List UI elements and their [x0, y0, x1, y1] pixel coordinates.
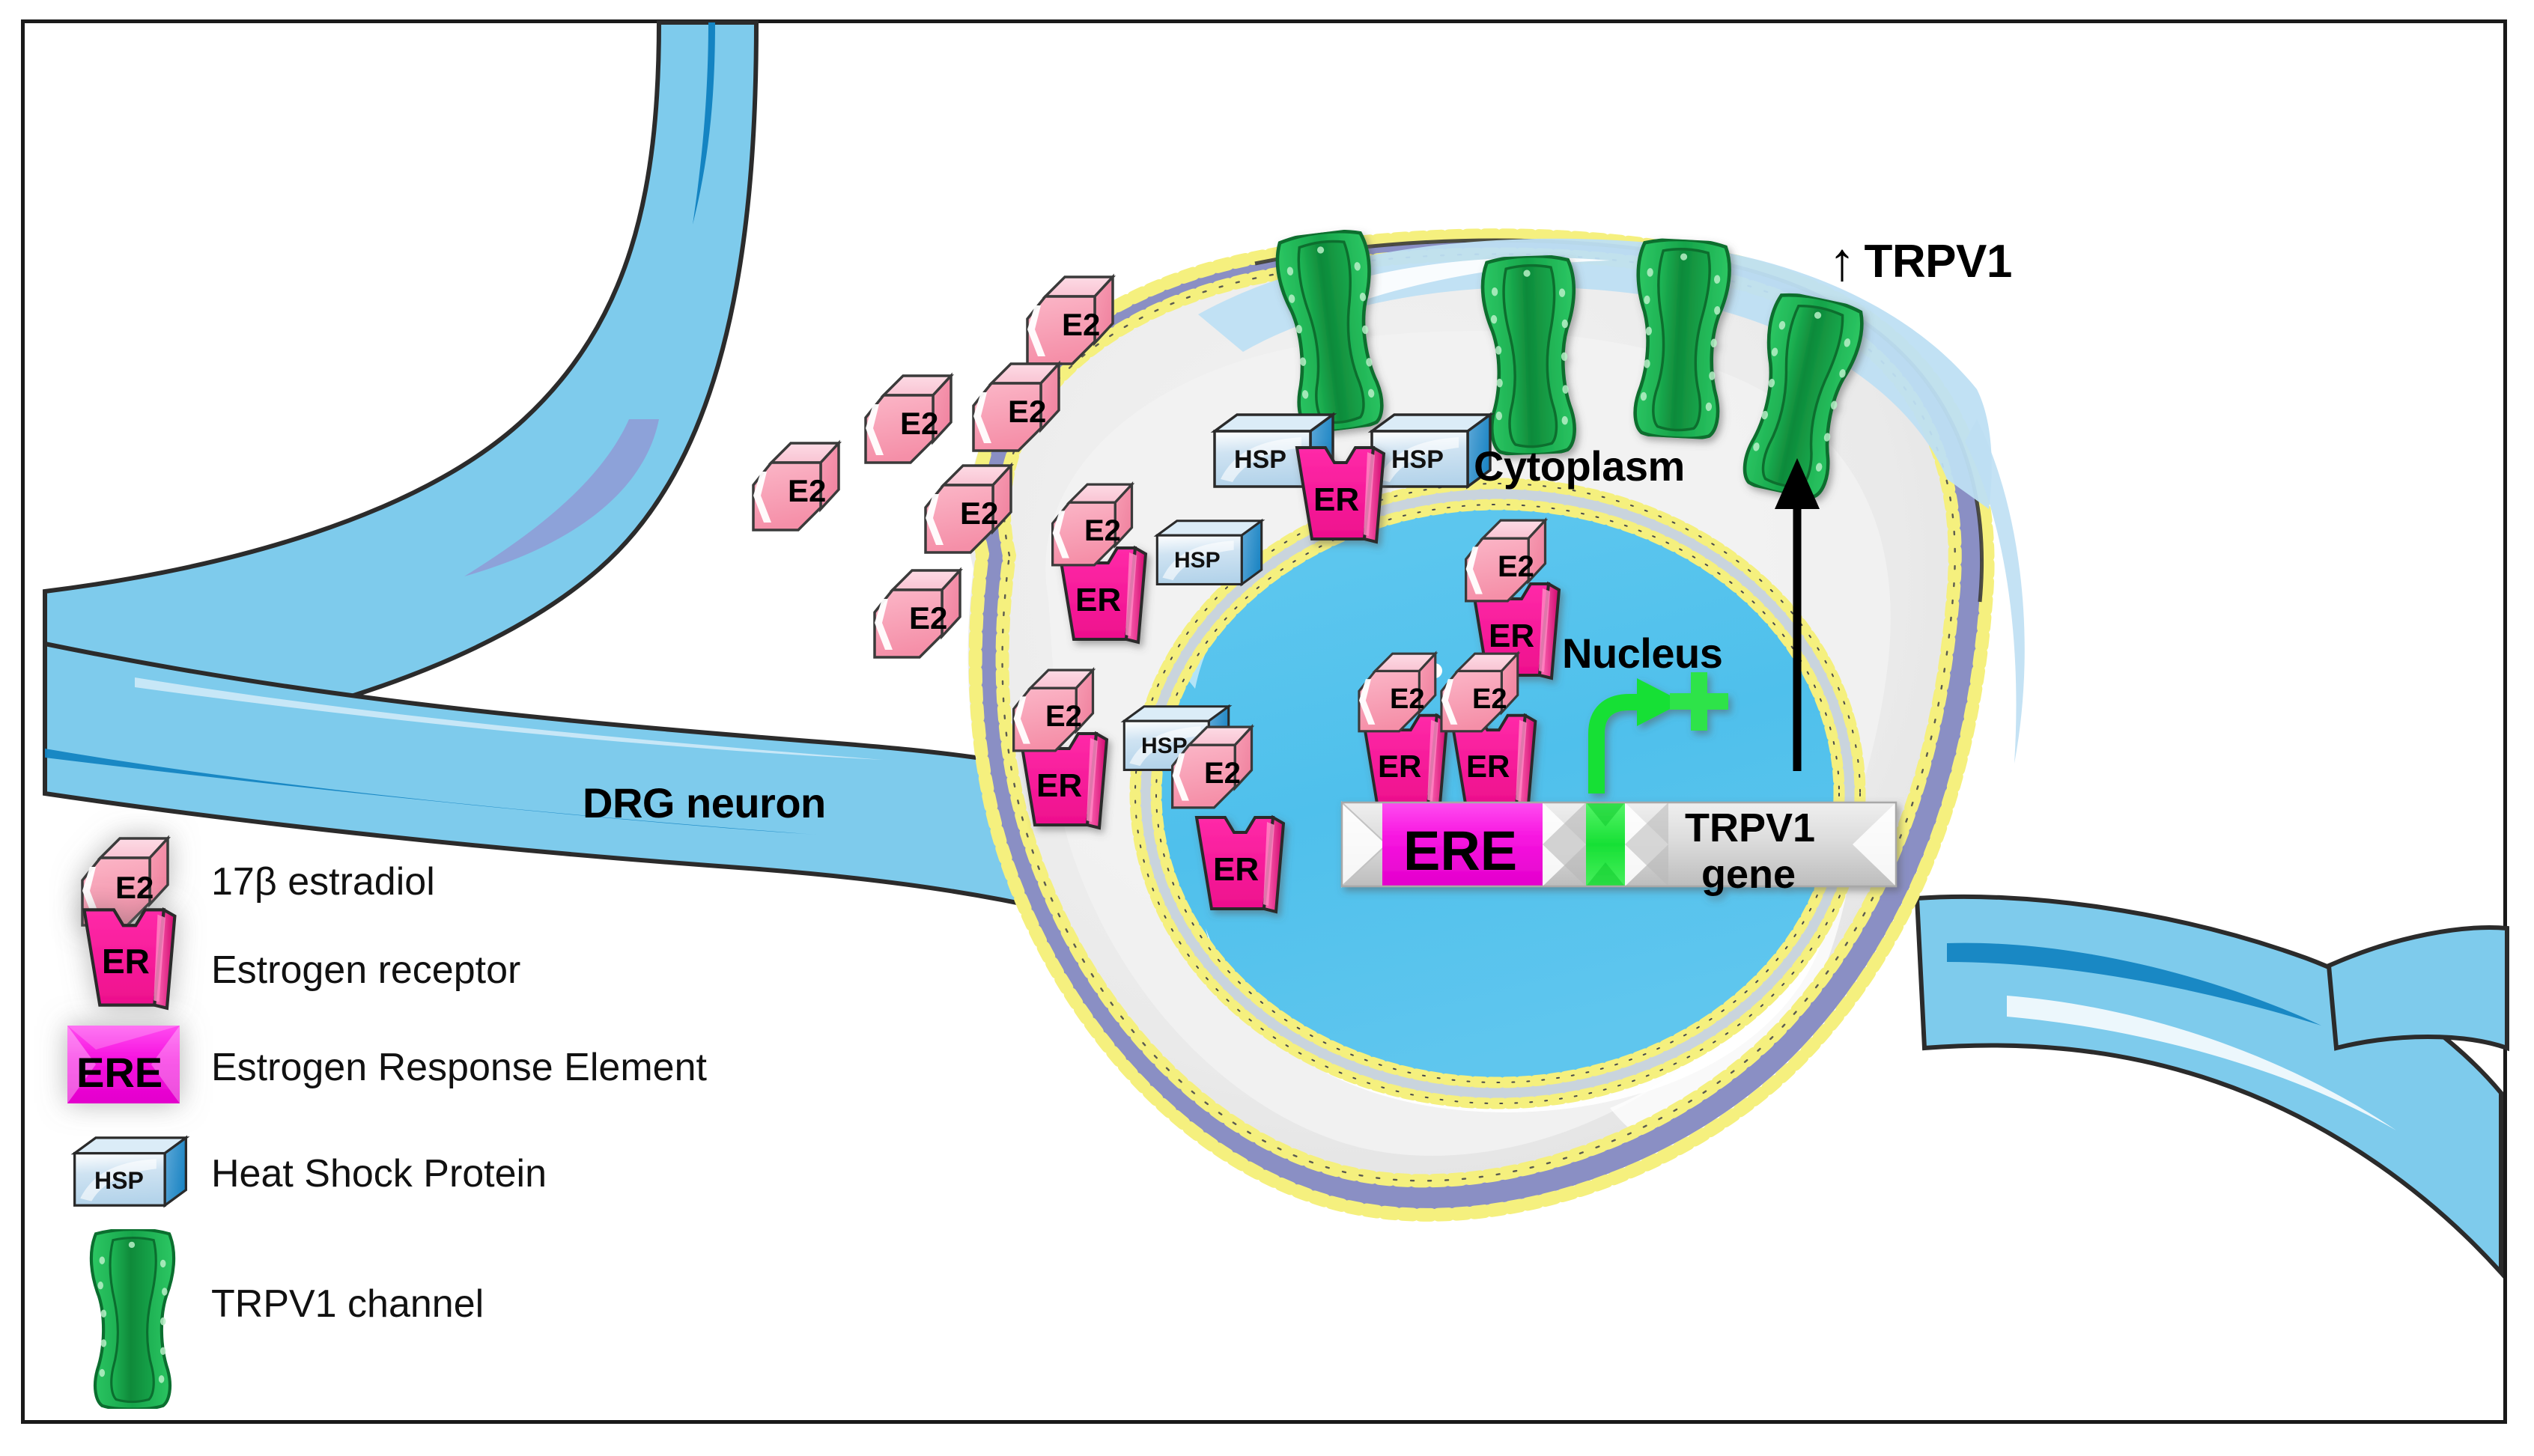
estradiol-molecule[interactable]: E2: [866, 376, 951, 463]
svg-text:E2: E2: [1062, 307, 1100, 342]
svg-text:ER: ER: [1378, 749, 1421, 784]
estradiol-molecule[interactable]: E2: [753, 443, 839, 530]
svg-text:ER: ER: [102, 942, 150, 981]
svg-text:E2: E2: [960, 496, 998, 531]
legend-label-estradiol: 17β estradiol: [211, 859, 435, 904]
svg-text:ER: ER: [1036, 767, 1082, 804]
heat-shock-protein[interactable]: HSP: [1157, 521, 1261, 585]
legend-label-hsp: Heat Shock Protein: [211, 1151, 547, 1196]
svg-text:ERE: ERE: [76, 1049, 162, 1096]
svg-text:ER: ER: [1075, 582, 1121, 618]
up-arrow-icon: ↑: [1829, 238, 1856, 286]
svg-text:HSP: HSP: [1234, 445, 1286, 474]
legend-hsp-box-icon: HSP: [75, 1138, 186, 1205]
svg-text:E2: E2: [1498, 550, 1534, 583]
svg-text:HSP: HSP: [1174, 548, 1221, 573]
trpv1-label: TRPV1: [1865, 238, 2012, 286]
svg-text:E2: E2: [1472, 683, 1507, 715]
trpv1-channel[interactable]: [1482, 255, 1580, 457]
svg-text:E2: E2: [1390, 683, 1424, 715]
svg-text:E2: E2: [909, 600, 947, 636]
svg-text:E2: E2: [788, 473, 826, 508]
estrogen-receptor[interactable]: ER: [1197, 817, 1283, 912]
legend-label-trpv1-channel: TRPV1 channel: [211, 1282, 484, 1326]
svg-text:ER: ER: [1466, 749, 1510, 784]
legend-estrogen-receptor-icon: ER: [84, 910, 174, 1008]
estradiol-molecule[interactable]: E2: [875, 570, 960, 657]
legend-label-estrogen-receptor: Estrogen receptor: [211, 948, 520, 993]
heat-shock-protein[interactable]: HSP: [1372, 415, 1490, 487]
svg-text:E2: E2: [1008, 394, 1046, 429]
drg-neuron-label: DRG neuron: [583, 779, 826, 827]
svg-text:ER: ER: [1213, 851, 1259, 888]
trpv1-gene-label-1: TRPV1: [1685, 805, 1815, 850]
trpv1-gene-label-2: gene: [1701, 852, 1796, 897]
svg-text:E2: E2: [1045, 700, 1082, 733]
ere-label: ERE: [1403, 820, 1517, 882]
legend-ere-block-icon: ERE: [67, 1026, 180, 1103]
legend-icons: E2 ER ERE HSP: [67, 838, 186, 1410]
trpv1-upregulation-group: ↑ TRPV1: [1829, 238, 2012, 286]
svg-text:HSP: HSP: [1391, 445, 1444, 474]
svg-text:HSP: HSP: [94, 1167, 144, 1194]
figure-canvas: E2 E2 E2 E2 E2 E2: [0, 0, 2534, 1456]
gene-construct: ERE TRPV1 gene: [1342, 802, 1896, 897]
legend-label-ere: Estrogen Response Element: [211, 1045, 707, 1090]
svg-text:E2: E2: [1204, 757, 1241, 790]
svg-text:ER: ER: [1489, 618, 1534, 654]
svg-text:E2: E2: [115, 870, 154, 905]
diagram-svg: E2 E2 E2 E2 E2 E2: [0, 0, 2534, 1456]
cytoplasm-label: Cytoplasm: [1474, 442, 1685, 490]
svg-text:E2: E2: [900, 406, 938, 441]
svg-text:E2: E2: [1084, 514, 1121, 547]
svg-text:ER: ER: [1313, 481, 1359, 518]
legend-trpv1-channel-icon: [91, 1229, 174, 1410]
estrogen-receptor[interactable]: ER: [1297, 448, 1384, 542]
nucleus-label: Nucleus: [1562, 629, 1722, 677]
